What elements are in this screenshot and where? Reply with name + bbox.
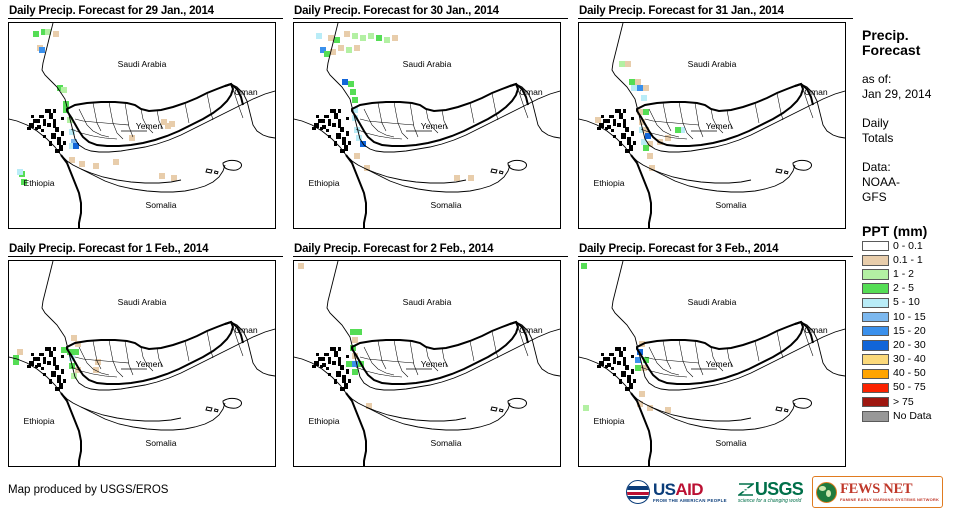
legend-label: 5 - 10 bbox=[893, 297, 920, 308]
legend-swatch bbox=[862, 326, 889, 337]
legend-swatch bbox=[862, 340, 889, 351]
coastal-detail bbox=[27, 347, 66, 391]
country-label-ethiopia: Ethiopia bbox=[593, 178, 624, 188]
islands bbox=[776, 160, 812, 173]
country-label-oman: Oman bbox=[804, 325, 828, 335]
map-canvas: Saudi ArabiaOmanYemenEthiopiaSomalia bbox=[579, 23, 845, 228]
map-frame[interactable]: Saudi ArabiaOmanYemenEthiopiaSomalia bbox=[8, 22, 276, 229]
country-label-ethiopia: Ethiopia bbox=[308, 178, 339, 188]
map-canvas: Saudi ArabiaOmanYemenEthiopiaSomalia bbox=[579, 261, 845, 466]
precip-cell bbox=[324, 51, 330, 57]
map-panel-title: Daily Precip. Forecast for 1 Feb., 2014 bbox=[8, 242, 283, 257]
precip-cell bbox=[635, 365, 641, 371]
coastal-detail bbox=[597, 109, 636, 153]
country-label-saudi_arabia: Saudi Arabia bbox=[403, 297, 452, 307]
legend-label: 0 - 0.1 bbox=[893, 241, 923, 252]
usaid-word-us: US bbox=[653, 480, 675, 499]
legend-swatch bbox=[862, 397, 889, 408]
legend-swatch bbox=[862, 283, 889, 294]
map-panel-title: Daily Precip. Forecast for 30 Jan., 2014 bbox=[293, 4, 568, 19]
map-frame[interactable]: Saudi ArabiaOmanYemenEthiopiaSomalia bbox=[293, 22, 561, 229]
country-label-somalia: Somalia bbox=[430, 200, 461, 210]
legend-swatch bbox=[862, 241, 889, 252]
precip-cell bbox=[334, 37, 340, 43]
country-label-oman: Oman bbox=[234, 87, 258, 97]
sidebar-title: Precip. Forecast bbox=[862, 28, 967, 58]
country-label-yemen: Yemen bbox=[421, 359, 448, 369]
precip-cell bbox=[338, 45, 344, 51]
coastlines bbox=[9, 23, 275, 192]
totals-block: Daily Totals bbox=[862, 116, 967, 146]
precip-cell bbox=[629, 79, 635, 85]
sidebar-title-line2: Forecast bbox=[862, 42, 920, 58]
precip-cell bbox=[348, 81, 354, 87]
legend-row: No Data bbox=[862, 409, 967, 423]
map-canvas: Saudi ArabiaOmanYemenEthiopiaSomalia bbox=[9, 23, 275, 228]
precip-cell bbox=[354, 45, 360, 51]
precip-cell bbox=[113, 159, 119, 165]
islands bbox=[206, 160, 242, 173]
coastlines bbox=[294, 261, 560, 430]
country-labels: Saudi ArabiaOmanYemenEthiopiaSomalia bbox=[308, 297, 542, 448]
map-frame[interactable]: Saudi ArabiaOmanYemenEthiopiaSomalia bbox=[8, 260, 276, 467]
legend-label: 20 - 30 bbox=[893, 340, 926, 351]
usaid-tagline: FROM THE AMERICAN PEOPLE bbox=[653, 499, 727, 503]
legend-entries: 0 - 0.10.1 - 11 - 22 - 55 - 1010 - 1515 … bbox=[862, 239, 967, 423]
precip-cell bbox=[637, 85, 643, 91]
country-label-oman: Oman bbox=[234, 325, 258, 335]
legend-row: 20 - 30 bbox=[862, 338, 967, 352]
precip-cell bbox=[53, 31, 59, 37]
legend-swatch bbox=[862, 298, 889, 309]
precip-cell bbox=[352, 33, 358, 39]
country-label-yemen: Yemen bbox=[136, 359, 163, 369]
country-label-somalia: Somalia bbox=[145, 200, 176, 210]
legend-label: 30 - 40 bbox=[893, 354, 926, 365]
legend-row: 50 - 75 bbox=[862, 381, 967, 395]
logo-strip: USAID FROM THE AMERICAN PEOPLE USGS scie… bbox=[626, 477, 943, 507]
country-label-somalia: Somalia bbox=[715, 200, 746, 210]
country-label-yemen: Yemen bbox=[421, 121, 448, 131]
precip-cell bbox=[71, 335, 77, 341]
country-labels: Saudi ArabiaOmanYemenEthiopiaSomalia bbox=[23, 59, 257, 210]
islands bbox=[491, 398, 527, 411]
country-label-oman: Oman bbox=[804, 87, 828, 97]
precip-cell bbox=[595, 117, 601, 123]
precip-cell bbox=[328, 35, 334, 41]
usaid-seal-icon bbox=[626, 480, 650, 504]
coastal-detail bbox=[312, 109, 351, 153]
precip-cell bbox=[17, 349, 23, 355]
data-label: Data: bbox=[862, 160, 967, 175]
precip-cell bbox=[61, 87, 67, 93]
map-frame[interactable]: Saudi ArabiaOmanYemenEthiopiaSomalia bbox=[578, 260, 846, 467]
precip-cell bbox=[33, 31, 39, 37]
coastlines bbox=[579, 23, 845, 192]
precip-cell bbox=[625, 61, 631, 67]
precip-cell bbox=[93, 163, 99, 169]
map-panel-2: Daily Precip. Forecast for 30 Jan., 2014… bbox=[293, 4, 568, 229]
country-label-saudi_arabia: Saudi Arabia bbox=[403, 59, 452, 69]
precip-cell bbox=[376, 35, 382, 41]
precip-cell bbox=[344, 31, 350, 37]
country-label-somalia: Somalia bbox=[430, 438, 461, 448]
legend-row: 1 - 2 bbox=[862, 267, 967, 281]
coastlines bbox=[9, 261, 275, 430]
precip-cell bbox=[342, 79, 348, 85]
country-labels: Saudi ArabiaOmanYemenEthiopiaSomalia bbox=[593, 297, 827, 448]
legend-label: 1 - 2 bbox=[893, 269, 914, 280]
precip-cell bbox=[454, 175, 460, 181]
precip-cell bbox=[79, 161, 85, 167]
map-panel-title: Daily Precip. Forecast for 3 Feb., 2014 bbox=[578, 242, 853, 257]
as-of-block: as of: Jan 29, 2014 bbox=[862, 72, 967, 102]
country-label-saudi_arabia: Saudi Arabia bbox=[688, 297, 737, 307]
legend-label: 0.1 - 1 bbox=[893, 255, 923, 266]
precip-cell bbox=[171, 175, 177, 181]
legend-swatch bbox=[862, 369, 889, 380]
country-label-ethiopia: Ethiopia bbox=[23, 178, 54, 188]
forecast-map-page: Daily Precip. Forecast for 29 Jan., 2014… bbox=[0, 0, 967, 511]
precip-cell bbox=[647, 153, 653, 159]
coastal-detail bbox=[312, 347, 351, 391]
map-frame[interactable]: Saudi ArabiaOmanYemenEthiopiaSomalia bbox=[578, 22, 846, 229]
legend-label: 2 - 5 bbox=[893, 283, 914, 294]
data-source-line2: GFS bbox=[862, 190, 967, 205]
precip-cell bbox=[73, 349, 79, 355]
country-label-somalia: Somalia bbox=[715, 438, 746, 448]
legend-swatch bbox=[862, 255, 889, 266]
precip-cell bbox=[17, 169, 23, 175]
map-panel-5: Daily Precip. Forecast for 2 Feb., 2014 … bbox=[293, 242, 568, 467]
precip-cell bbox=[169, 121, 175, 127]
map-panel-title: Daily Precip. Forecast for 31 Jan., 2014 bbox=[578, 4, 853, 19]
sidebar-title-line1: Precip. bbox=[862, 27, 909, 43]
map-canvas: Saudi ArabiaOmanYemenEthiopiaSomalia bbox=[294, 23, 560, 228]
precip-cell bbox=[346, 47, 352, 53]
precip-cell bbox=[392, 35, 398, 41]
legend-row: 2 - 5 bbox=[862, 282, 967, 296]
country-label-yemen: Yemen bbox=[706, 121, 733, 131]
totals-line2: Totals bbox=[862, 131, 967, 146]
legend-row: 5 - 10 bbox=[862, 296, 967, 310]
country-label-saudi_arabia: Saudi Arabia bbox=[688, 59, 737, 69]
precip-cell bbox=[298, 263, 304, 269]
legend-sidebar: Precip. Forecast as of: Jan 29, 2014 Dai… bbox=[862, 0, 967, 511]
legend-swatch bbox=[862, 269, 889, 280]
precip-cell bbox=[665, 135, 671, 141]
coastlines bbox=[294, 23, 560, 192]
data-source-block: Data: NOAA- GFS bbox=[862, 160, 967, 205]
legend-row: 40 - 50 bbox=[862, 367, 967, 381]
legend-swatch bbox=[862, 383, 889, 394]
map-credit: Map produced by USGS/EROS bbox=[8, 484, 168, 496]
precip-cell bbox=[352, 337, 358, 343]
precip-cell bbox=[368, 33, 374, 39]
as-of-date: Jan 29, 2014 bbox=[862, 87, 967, 102]
legend-row: > 75 bbox=[862, 395, 967, 409]
precip-cell bbox=[581, 263, 587, 269]
precip-cells bbox=[298, 263, 372, 409]
precip-cell bbox=[316, 33, 322, 39]
precip-cell bbox=[643, 109, 649, 115]
map-canvas: Saudi ArabiaOmanYemenEthiopiaSomalia bbox=[9, 261, 275, 466]
precip-cell bbox=[360, 35, 366, 41]
precip-cell bbox=[350, 329, 356, 335]
coastlines bbox=[579, 261, 845, 430]
precip-cell bbox=[95, 359, 101, 365]
map-panel-title: Daily Precip. Forecast for 29 Jan., 2014 bbox=[8, 4, 283, 19]
country-label-oman: Oman bbox=[519, 87, 543, 97]
map-panel-title: Daily Precip. Forecast for 2 Feb., 2014 bbox=[293, 242, 568, 257]
country-label-ethiopia: Ethiopia bbox=[23, 416, 54, 426]
precip-cell bbox=[468, 175, 474, 181]
islands bbox=[776, 398, 812, 411]
map-panel-3: Daily Precip. Forecast for 31 Jan., 2014… bbox=[578, 4, 853, 229]
precip-cell bbox=[635, 79, 641, 85]
legend-title: PPT (mm) bbox=[862, 223, 967, 239]
precip-cell bbox=[346, 361, 352, 367]
precip-cell bbox=[639, 391, 645, 397]
legend-swatch bbox=[862, 411, 889, 422]
country-labels: Saudi ArabiaOmanYemenEthiopiaSomalia bbox=[593, 59, 827, 210]
usaid-wordmark: USAID bbox=[653, 481, 727, 498]
legend-label: 40 - 50 bbox=[893, 368, 926, 379]
legend-row: 0 - 0.1 bbox=[862, 239, 967, 253]
fews-tagline: FAMINE EARLY WARNING SYSTEMS NETWORK bbox=[840, 498, 939, 502]
legend-row: 15 - 20 bbox=[862, 324, 967, 338]
coastal-detail bbox=[597, 347, 636, 391]
precip-cell bbox=[352, 97, 358, 103]
usaid-word-aid: AID bbox=[675, 480, 702, 499]
precip-cell bbox=[93, 367, 99, 373]
country-label-ethiopia: Ethiopia bbox=[593, 416, 624, 426]
totals-line1: Daily bbox=[862, 116, 967, 131]
map-panel-6: Daily Precip. Forecast for 3 Feb., 2014 … bbox=[578, 242, 853, 467]
country-label-oman: Oman bbox=[519, 325, 543, 335]
legend-swatch bbox=[862, 354, 889, 365]
precip-cells bbox=[17, 29, 177, 185]
precip-cell bbox=[354, 153, 360, 159]
precip-cell bbox=[665, 407, 671, 413]
precip-cell bbox=[69, 157, 75, 163]
precip-cell bbox=[350, 89, 356, 95]
precip-cell bbox=[643, 145, 649, 151]
islands bbox=[491, 160, 527, 173]
legend-row: 10 - 15 bbox=[862, 310, 967, 324]
map-panel-1: Daily Precip. Forecast for 29 Jan., 2014… bbox=[8, 4, 283, 229]
usaid-logo: USAID FROM THE AMERICAN PEOPLE bbox=[626, 478, 727, 506]
legend-swatch bbox=[862, 312, 889, 323]
usgs-tagline: science for a changing world bbox=[738, 499, 803, 504]
legend-row: 0.1 - 1 bbox=[862, 253, 967, 267]
country-label-ethiopia: Ethiopia bbox=[308, 416, 339, 426]
legend-row: 30 - 40 bbox=[862, 353, 967, 367]
precip-cell bbox=[159, 173, 165, 179]
data-source-line1: NOAA- bbox=[862, 175, 967, 190]
precip-cell bbox=[356, 329, 362, 335]
country-label-yemen: Yemen bbox=[706, 359, 733, 369]
map-canvas: Saudi ArabiaOmanYemenEthiopiaSomalia bbox=[294, 261, 560, 466]
legend-label: 15 - 20 bbox=[893, 326, 926, 337]
fews-wordmark: FEWS NET bbox=[840, 482, 939, 497]
precip-cell bbox=[619, 61, 625, 67]
fews-net-logo: FEWS NET FAMINE EARLY WARNING SYSTEMS NE… bbox=[812, 476, 943, 508]
as-of-label: as of: bbox=[862, 72, 967, 87]
precip-cell bbox=[384, 37, 390, 43]
usgs-wordmark: USGS bbox=[755, 480, 803, 498]
islands bbox=[206, 398, 242, 411]
legend-label: 50 - 75 bbox=[893, 382, 926, 393]
map-panel-4: Daily Precip. Forecast for 1 Feb., 2014 … bbox=[8, 242, 283, 467]
coastal-detail bbox=[27, 109, 66, 153]
precip-cell bbox=[129, 135, 135, 141]
map-frame[interactable]: Saudi ArabiaOmanYemenEthiopiaSomalia bbox=[293, 260, 561, 467]
country-label-saudi_arabia: Saudi Arabia bbox=[118, 297, 167, 307]
precip-cell bbox=[643, 85, 649, 91]
precip-cell bbox=[675, 127, 681, 133]
precip-cell bbox=[641, 95, 647, 101]
precip-cell bbox=[39, 47, 45, 53]
usgs-wave-icon bbox=[738, 482, 754, 497]
precip-cell bbox=[352, 369, 358, 375]
legend-label: 10 - 15 bbox=[893, 312, 926, 323]
country-labels: Saudi ArabiaOmanYemenEthiopiaSomalia bbox=[23, 297, 257, 448]
country-label-saudi_arabia: Saudi Arabia bbox=[118, 59, 167, 69]
legend-label: No Data bbox=[893, 411, 932, 422]
country-label-yemen: Yemen bbox=[136, 121, 163, 131]
country-label-somalia: Somalia bbox=[145, 438, 176, 448]
precip-cell bbox=[631, 85, 637, 91]
fews-globe-icon bbox=[816, 482, 837, 503]
legend-label: > 75 bbox=[893, 397, 914, 408]
precip-cell bbox=[583, 405, 589, 411]
usgs-logo: USGS science for a changing world bbox=[736, 478, 803, 506]
